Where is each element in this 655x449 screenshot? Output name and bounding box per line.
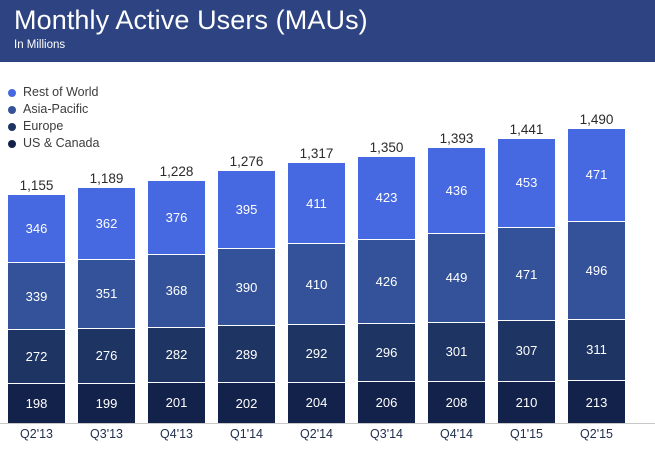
chart-header: Monthly Active Users (MAUs) In Millions xyxy=(0,0,655,62)
bar-segment-label: 368 xyxy=(166,283,188,298)
bar-segment-label: 206 xyxy=(376,395,398,410)
bar-segment-label: 198 xyxy=(26,396,48,411)
bar-segment-label: 204 xyxy=(306,395,328,410)
x-axis-tick-label: Q1'14 xyxy=(218,427,275,441)
legend-item[interactable]: Asia-Pacific xyxy=(8,101,208,118)
chart-root: Monthly Active Users (MAUs) In Millions … xyxy=(0,0,655,449)
bar-total-label: 1,350 xyxy=(352,140,421,155)
bar-segment-label: 471 xyxy=(586,167,608,182)
bar-segment[interactable]: 289 xyxy=(218,326,275,383)
bar-segment-label: 210 xyxy=(516,395,538,410)
bar-segment-label: 410 xyxy=(306,277,328,292)
bar-segment[interactable]: 376 xyxy=(148,181,205,255)
bar-column[interactable]: 1,441453471307210 xyxy=(498,110,555,423)
bar-segment-label: 471 xyxy=(516,267,538,282)
x-axis-tick-label: Q3'14 xyxy=(358,427,415,441)
x-axis-tick-label: Q2'15 xyxy=(568,427,625,441)
legend-swatch-icon xyxy=(8,140,16,148)
bar-segment[interactable]: 202 xyxy=(218,383,275,423)
bar-segment[interactable]: 307 xyxy=(498,321,555,382)
bar-segment-label: 496 xyxy=(586,263,608,278)
bar-segment[interactable]: 272 xyxy=(8,330,65,384)
bar-total-label: 1,276 xyxy=(212,154,281,169)
bar-segment-label: 362 xyxy=(96,216,118,231)
bar-segment[interactable]: 339 xyxy=(8,263,65,330)
bar-segment-label: 199 xyxy=(96,396,118,411)
bar-segment[interactable]: 208 xyxy=(428,382,485,423)
bar-segment[interactable]: 449 xyxy=(428,234,485,323)
legend-item-label: US & Canada xyxy=(23,135,99,152)
bar-total-label: 1,155 xyxy=(2,178,71,193)
x-axis-tick-label: Q1'15 xyxy=(498,427,555,441)
x-axis-line xyxy=(0,423,655,424)
legend-item[interactable]: Rest of World xyxy=(8,84,208,101)
bar-segment[interactable]: 210 xyxy=(498,382,555,423)
bar-segment[interactable]: 213 xyxy=(568,381,625,423)
bar-segment[interactable]: 471 xyxy=(498,228,555,321)
bar-segment-label: 453 xyxy=(516,175,538,190)
bar-total-label: 1,393 xyxy=(422,131,491,146)
bar-column[interactable]: 1,490471496311213 xyxy=(568,110,625,423)
bar-segment[interactable]: 368 xyxy=(148,255,205,328)
bar-stack: 346339272198 xyxy=(8,195,65,423)
bar-stack: 471496311213 xyxy=(568,129,625,423)
bar-segment-label: 423 xyxy=(376,190,398,205)
x-axis-tick-label: Q2'13 xyxy=(8,427,65,441)
chart-legend: Rest of WorldAsia-PacificEuropeUS & Cana… xyxy=(8,84,208,152)
bar-segment-label: 208 xyxy=(446,395,468,410)
bar-segment-label: 449 xyxy=(446,270,468,285)
bar-segment[interactable]: 199 xyxy=(78,384,135,423)
bar-segment-label: 339 xyxy=(26,289,48,304)
bar-total-label: 1,441 xyxy=(492,122,561,137)
bar-segment-label: 351 xyxy=(96,286,118,301)
bar-stack: 362351276199 xyxy=(78,188,135,423)
bar-segment[interactable]: 395 xyxy=(218,171,275,249)
legend-item[interactable]: US & Canada xyxy=(8,135,208,152)
bar-stack: 423426296206 xyxy=(358,157,415,423)
bar-segment-label: 311 xyxy=(586,342,607,357)
bar-segment-label: 301 xyxy=(446,344,468,359)
bar-total-label: 1,228 xyxy=(142,164,211,179)
bar-segment-label: 292 xyxy=(306,346,328,361)
bar-segment-label: 390 xyxy=(236,280,258,295)
bar-segment[interactable]: 411 xyxy=(288,163,345,244)
bar-segment[interactable]: 436 xyxy=(428,148,485,234)
bar-segment-label: 307 xyxy=(516,343,538,358)
legend-item-label: Asia-Pacific xyxy=(23,101,88,118)
bar-stack: 453471307210 xyxy=(498,139,555,423)
bar-column[interactable]: 1,276395390289202 xyxy=(218,110,275,423)
bar-column[interactable]: 1,350423426296206 xyxy=(358,110,415,423)
legend-item-label: Europe xyxy=(23,118,63,135)
bar-total-label: 1,490 xyxy=(562,112,631,127)
x-axis-tick-label: Q3'13 xyxy=(78,427,135,441)
legend-swatch-icon xyxy=(8,106,16,114)
x-axis-labels: Q2'13Q3'13Q4'13Q1'14Q2'14Q3'14Q4'14Q1'15… xyxy=(8,427,648,441)
bar-segment[interactable]: 496 xyxy=(568,222,625,320)
bar-segment-label: 411 xyxy=(306,196,327,211)
bar-segment[interactable]: 453 xyxy=(498,139,555,228)
bar-segment[interactable]: 296 xyxy=(358,324,415,382)
bar-segment[interactable]: 204 xyxy=(288,383,345,423)
bar-column[interactable]: 1,317411410292204 xyxy=(288,110,345,423)
bar-total-label: 1,317 xyxy=(282,146,351,161)
bar-segment-label: 213 xyxy=(586,395,608,410)
bar-segment-label: 376 xyxy=(166,210,188,225)
bar-segment-label: 346 xyxy=(26,221,48,236)
x-axis-tick-label: Q4'14 xyxy=(428,427,485,441)
bar-segment-label: 272 xyxy=(26,349,48,364)
bar-stack: 376368282201 xyxy=(148,181,205,423)
bar-stack: 411410292204 xyxy=(288,163,345,423)
bar-segment-label: 282 xyxy=(166,347,188,362)
bar-segment[interactable]: 423 xyxy=(358,157,415,240)
bar-segment-label: 276 xyxy=(96,348,118,363)
bar-segment[interactable]: 351 xyxy=(78,260,135,329)
legend-swatch-icon xyxy=(8,123,16,131)
bar-total-label: 1,189 xyxy=(72,171,141,186)
bar-segment-label: 201 xyxy=(166,395,188,410)
bar-column[interactable]: 1,393436449301208 xyxy=(428,110,485,423)
bar-segment[interactable]: 301 xyxy=(428,323,485,382)
bar-segment-label: 395 xyxy=(236,202,258,217)
bar-segment[interactable]: 426 xyxy=(358,240,415,324)
bar-segment-label: 436 xyxy=(446,183,468,198)
bar-segment[interactable]: 282 xyxy=(148,328,205,384)
plot-area: 1,1553463392721981,1893623512761991,2283… xyxy=(0,0,655,449)
bar-segment[interactable]: 471 xyxy=(568,129,625,222)
bar-segment[interactable]: 206 xyxy=(358,382,415,423)
bar-segment[interactable]: 201 xyxy=(148,383,205,423)
bar-column[interactable]: 1,189362351276199 xyxy=(78,110,135,423)
x-axis-tick-label: Q2'14 xyxy=(288,427,345,441)
bar-column[interactable]: 1,155346339272198 xyxy=(8,110,65,423)
bar-segment[interactable]: 362 xyxy=(78,188,135,259)
bar-segment-label: 202 xyxy=(236,396,258,411)
x-axis-tick-label: Q4'13 xyxy=(148,427,205,441)
legend-item-label: Rest of World xyxy=(23,84,99,101)
bar-segment[interactable]: 198 xyxy=(8,384,65,423)
bar-segment[interactable]: 276 xyxy=(78,329,135,383)
bar-column[interactable]: 1,228376368282201 xyxy=(148,110,205,423)
bar-segment[interactable]: 311 xyxy=(568,320,625,381)
bar-segment[interactable]: 390 xyxy=(218,249,275,326)
bar-segment[interactable]: 346 xyxy=(8,195,65,263)
legend-item[interactable]: Europe xyxy=(8,118,208,135)
page-title: Monthly Active Users (MAUs) xyxy=(14,4,655,36)
bar-segment-label: 289 xyxy=(236,347,258,362)
bar-segment[interactable]: 292 xyxy=(288,325,345,383)
bar-segment-label: 426 xyxy=(376,274,398,289)
legend-swatch-icon xyxy=(8,89,16,97)
bar-segment[interactable]: 410 xyxy=(288,244,345,325)
bar-group: 1,1553463392721981,1893623512761991,2283… xyxy=(8,110,648,423)
bar-stack: 436449301208 xyxy=(428,148,485,423)
chart-subtitle: In Millions xyxy=(14,38,655,52)
bar-stack: 395390289202 xyxy=(218,171,275,423)
bar-segment-label: 296 xyxy=(376,345,398,360)
